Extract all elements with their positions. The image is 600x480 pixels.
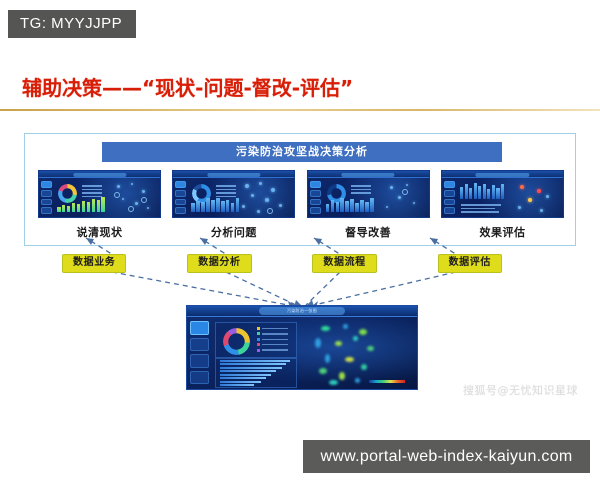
thumb-header-bar — [39, 171, 160, 178]
section-banner-title: 污染防治攻坚战决策分析 — [102, 142, 502, 162]
thumb-sidebar-icons — [41, 181, 52, 214]
hero-dashboard-title: 污染防治一张图 — [259, 307, 345, 315]
thumb-bar-chart — [191, 196, 239, 212]
thumb-map-visual — [380, 180, 426, 213]
process-tag-data-business[interactable]: 数据业务 — [62, 254, 126, 273]
dashboard-card-label: 分析问题 — [172, 224, 295, 240]
thumb-bar-chart — [57, 196, 105, 212]
hero-pie-legend — [257, 327, 288, 352]
thumb-legend — [351, 185, 371, 194]
dashboard-thumb-effect-evaluation — [441, 170, 564, 218]
thumb-header-bar — [173, 171, 294, 178]
dashboard-thumb-current-status — [38, 170, 161, 218]
hero-heatmap-colorbar — [369, 380, 405, 384]
dashboard-card-supervision-improvement[interactable]: 督导改善 — [307, 170, 430, 240]
dashboard-card-label: 效果评估 — [441, 224, 564, 240]
thumb-bar-chart — [326, 196, 374, 212]
thumb-map-visual — [111, 180, 157, 213]
thumb-map-visual — [237, 180, 291, 213]
hero-pie-chart — [223, 328, 250, 355]
sohu-watermark: 搜狐号@无忧知识星球 — [463, 382, 578, 398]
decision-analysis-frame: 污染防治攻坚战决策分析 — [24, 133, 576, 246]
hero-horizontal-bar-chart — [220, 360, 290, 386]
thumb-header-bar — [442, 171, 563, 178]
hero-nav-item[interactable] — [190, 371, 209, 385]
hero-sidebar-nav[interactable] — [190, 321, 209, 384]
thumb-sidebar-icons — [175, 181, 186, 214]
hero-nav-item-active[interactable] — [190, 321, 209, 335]
thumb-header-bar — [308, 171, 429, 178]
process-tag-data-analysis[interactable]: 数据分析 — [187, 254, 251, 273]
process-tag-data-evaluation[interactable]: 数据评估 — [438, 254, 502, 273]
dashboard-card-label: 说清现状 — [38, 224, 161, 240]
dashboard-thumb-supervision-improvement — [307, 170, 430, 218]
dashboard-thumb-problem-analysis — [172, 170, 295, 218]
thumb-sidebar-icons — [310, 181, 321, 214]
dashboard-card-current-status[interactable]: 说清现状 — [38, 170, 161, 240]
dashboard-card-list: 说清现状 — [38, 170, 564, 240]
thumb-map-visual — [510, 180, 560, 213]
url-watermark-bar: www.portal-web-index-kaiyun.com — [303, 440, 590, 473]
dashboard-card-effect-evaluation[interactable]: 效果评估 — [441, 170, 564, 240]
process-tag-data-process[interactable]: 数据流程 — [312, 254, 376, 273]
process-tag-list: 数据业务 数据分析 数据流程 数据评估 — [62, 254, 502, 273]
thumb-legend — [461, 204, 501, 213]
integrated-data-platform-dashboard[interactable]: 污染防治一张图 — [186, 305, 418, 390]
tg-watermark-tag: TG: MYYJJPP — [8, 10, 136, 38]
dashboard-card-label: 督导改善 — [307, 224, 430, 240]
hero-heatmap — [305, 320, 401, 386]
thumb-sidebar-icons — [444, 181, 455, 214]
page-title: 辅助决策——“现状-问题-督改-评估” — [22, 72, 353, 101]
title-divider — [0, 109, 600, 111]
hero-header-bar: 污染防治一张图 — [187, 306, 417, 317]
hero-nav-item[interactable] — [190, 354, 209, 368]
hero-nav-item[interactable] — [190, 338, 209, 352]
thumb-bar-chart — [460, 182, 504, 199]
dashboard-card-problem-analysis[interactable]: 分析问题 — [172, 170, 295, 240]
